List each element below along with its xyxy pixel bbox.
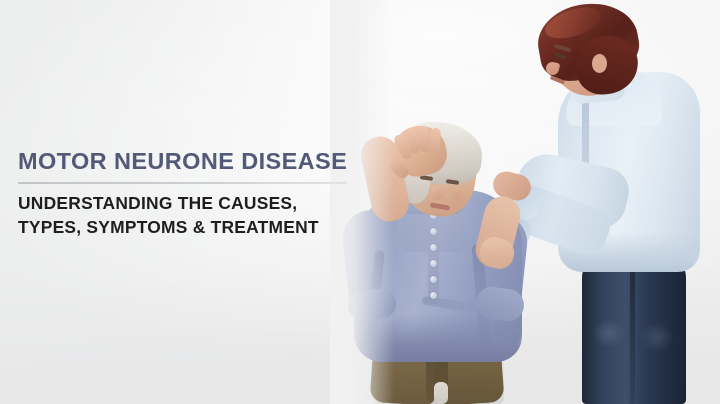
caregiver-knee-right (636, 322, 678, 356)
elderly-woman-cheek (448, 190, 468, 204)
blouse-button (430, 292, 437, 299)
subtitle-line-1: UNDERSTANDING THE CAUSES, (18, 191, 358, 215)
elderly-woman-knee-gap (434, 382, 448, 404)
blouse-button (430, 228, 437, 235)
blouse-button (430, 276, 437, 283)
caregiver-knee-left (588, 318, 630, 352)
motor-neurone-disease-banner: MOTOR NEURONE DISEASE UNDERSTANDING THE … (0, 0, 720, 404)
caregiver-ear (592, 54, 607, 73)
title-divider (18, 182, 347, 184)
subtitle-line-2: TYPES, SYMPTOMS & TREATMENT (18, 215, 358, 239)
blouse-button (430, 260, 437, 267)
page-subtitle: UNDERSTANDING THE CAUSES, TYPES, SYMPTOM… (18, 191, 358, 239)
caregiver-leg-seam (630, 262, 635, 404)
page-title: MOTOR NEURONE DISEASE (18, 148, 358, 174)
blouse-button (430, 244, 437, 251)
elderly-woman-blouse-placket (428, 208, 439, 304)
banner-photograph (330, 0, 720, 404)
banner-text-block: MOTOR NEURONE DISEASE UNDERSTANDING THE … (18, 148, 358, 239)
